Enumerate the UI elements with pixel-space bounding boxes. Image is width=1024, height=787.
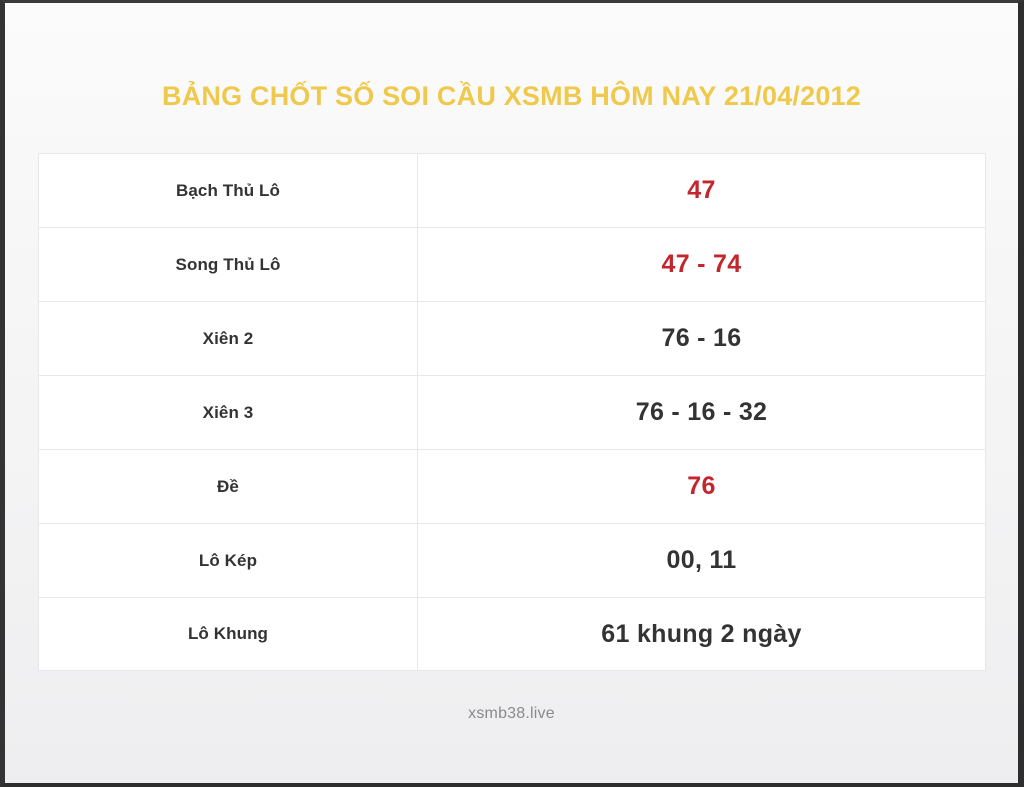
row-label: Đề	[39, 450, 418, 523]
page-title: BẢNG CHỐT SỐ SOI CẦU XSMB HÔM NAY 21/04/…	[5, 81, 1018, 112]
row-value: 76 - 16	[418, 302, 985, 375]
row-value: 76	[418, 450, 985, 523]
table-row: Đề 76	[38, 449, 986, 523]
row-value: 47	[418, 154, 985, 227]
row-label: Bạch Thủ Lô	[39, 154, 418, 227]
table-row: Song Thủ Lô 47 - 74	[38, 227, 986, 301]
row-label: Lô Khung	[39, 598, 418, 670]
site-watermark: xsmb38.live	[5, 705, 1018, 723]
row-label: Xiên 3	[39, 376, 418, 449]
row-value: 00, 11	[418, 524, 985, 597]
row-value: 76 - 16 - 32	[418, 376, 985, 449]
row-value: 47 - 74	[418, 228, 985, 301]
row-value: 61 khung 2 ngày	[418, 598, 985, 670]
row-label: Xiên 2	[39, 302, 418, 375]
row-label: Lô Kép	[39, 524, 418, 597]
table-row: Lô Khung 61 khung 2 ngày	[38, 597, 986, 671]
page-content: BẢNG CHỐT SỐ SOI CẦU XSMB HÔM NAY 21/04/…	[5, 3, 1018, 783]
table-row: Xiên 3 76 - 16 - 32	[38, 375, 986, 449]
prediction-table: Bạch Thủ Lô 47 Song Thủ Lô 47 - 74 Xiên …	[38, 153, 986, 671]
row-label: Song Thủ Lô	[39, 228, 418, 301]
screenshot-frame: BẢNG CHỐT SỐ SOI CẦU XSMB HÔM NAY 21/04/…	[0, 0, 1024, 787]
table-row: Xiên 2 76 - 16	[38, 301, 986, 375]
table-row: Lô Kép 00, 11	[38, 523, 986, 597]
table-row: Bạch Thủ Lô 47	[38, 153, 986, 227]
